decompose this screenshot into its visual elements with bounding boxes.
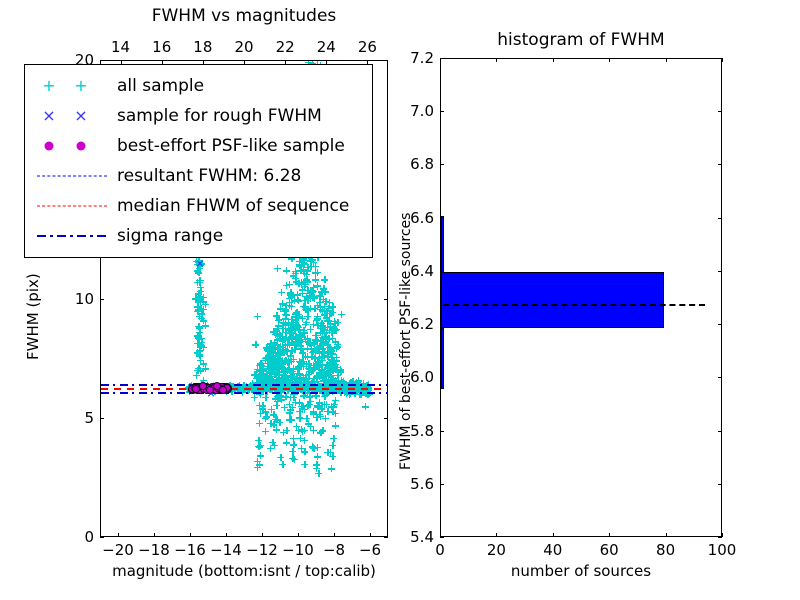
cross-icon: × xyxy=(42,108,55,124)
y-tick xyxy=(440,484,444,485)
histogram-resultant-FWHM-line xyxy=(443,304,705,306)
right-plot-title: histogram of FWHM xyxy=(440,30,722,50)
y-tick-label: 5.6 xyxy=(396,475,434,493)
x-tick xyxy=(609,533,610,537)
y-tick-label: 7.0 xyxy=(396,102,434,120)
x-tick-top xyxy=(496,58,497,62)
legend-key-2 xyxy=(33,135,111,157)
figure-canvas: FWHM vs magnitudes magnitude (bottom:isn… xyxy=(0,0,800,600)
y-tick-right xyxy=(718,537,722,538)
y-tick xyxy=(440,164,444,165)
legend-item-3: resultant FWHM: 6.28 xyxy=(33,161,362,191)
y-tick-label: 0 xyxy=(54,528,94,546)
y-tick-right xyxy=(718,58,722,59)
dot-icon xyxy=(45,142,54,151)
x-tick xyxy=(496,533,497,537)
legend-item-0: ++all sample xyxy=(33,71,362,101)
plus-icon: + xyxy=(42,78,55,94)
y-tick xyxy=(100,537,104,538)
cross-icon: × xyxy=(74,108,87,124)
x-tick-label: 60 xyxy=(600,541,619,559)
left-plot-xlabel: magnitude (bottom:isnt / top:calib) xyxy=(100,562,388,580)
y-tick-right xyxy=(718,431,722,432)
y-tick xyxy=(440,58,444,59)
x-tick-top xyxy=(553,58,554,62)
legend-item-2: best-effort PSF-like sample xyxy=(33,131,362,161)
legend-key-1: ×× xyxy=(33,105,111,127)
right-plot-axes xyxy=(440,58,722,537)
x-tick xyxy=(553,533,554,537)
x-tick-label-bottom: −8 xyxy=(323,541,345,559)
x-tick-label-bottom: −18 xyxy=(138,541,170,559)
x-tick-label-bottom: −12 xyxy=(246,541,278,559)
x-tick-label-bottom: −6 xyxy=(359,541,381,559)
y-tick-right xyxy=(384,537,388,538)
y-tick xyxy=(440,537,444,538)
legend-item-4: median FHWM of sequence xyxy=(33,191,362,221)
legend-item-label: all sample xyxy=(111,76,204,96)
x-tick-label: 80 xyxy=(656,541,675,559)
y-tick-label: 10 xyxy=(54,290,94,308)
right-plot-xlabel: number of sources xyxy=(440,562,722,580)
x-tick xyxy=(722,533,723,537)
x-tick-label-bottom: −14 xyxy=(210,541,242,559)
y-tick-label: 6.2 xyxy=(396,315,434,333)
x-tick-label-top: 26 xyxy=(358,38,377,56)
legend-box: ++all sample××sample for rough FWHMbest-… xyxy=(24,64,373,258)
x-tick-label: 100 xyxy=(708,541,737,559)
scatter-point-psf xyxy=(219,386,227,394)
dashdot-line-icon xyxy=(37,235,107,237)
y-tick-label: 6.0 xyxy=(396,368,434,386)
x-tick-top xyxy=(722,58,723,62)
y-tick xyxy=(440,111,444,112)
x-tick-top xyxy=(666,58,667,62)
y-tick-label: 6.6 xyxy=(396,209,434,227)
histogram-bar-0 xyxy=(441,328,444,389)
x-tick-label-top: 18 xyxy=(193,38,212,56)
y-tick-right xyxy=(718,377,722,378)
x-tick-label: 40 xyxy=(543,541,562,559)
histogram-content xyxy=(441,59,721,536)
y-tick-right xyxy=(718,111,722,112)
y-tick-right xyxy=(718,164,722,165)
legend-item-label: sample for rough FWHM xyxy=(111,106,322,126)
dashed-line-icon xyxy=(37,176,107,177)
x-tick-label: 20 xyxy=(487,541,506,559)
histogram-bar-1 xyxy=(441,272,664,328)
x-tick-label-top: 24 xyxy=(317,38,336,56)
y-tick-right xyxy=(718,324,722,325)
x-tick xyxy=(666,533,667,537)
x-tick-label-bottom: −16 xyxy=(174,541,206,559)
x-tick-label-top: 14 xyxy=(111,38,130,56)
y-tick xyxy=(440,431,444,432)
left-plot-title: FWHM vs magnitudes xyxy=(100,6,388,26)
legend-item-label: sigma range xyxy=(111,226,223,246)
x-tick-label: 0 xyxy=(435,541,445,559)
left-plot-ylabel: FWHM (pix) xyxy=(24,273,42,360)
legend-item-label: median FHWM of sequence xyxy=(111,196,349,216)
legend-item-label: best-effort PSF-like sample xyxy=(111,136,345,156)
y-tick-label: 6.4 xyxy=(396,262,434,280)
x-tick-label-bottom: −10 xyxy=(282,541,314,559)
y-tick-label: 6.8 xyxy=(396,155,434,173)
y-tick-label: 5.4 xyxy=(396,528,434,546)
y-tick-right xyxy=(718,484,722,485)
legend-item-1: ××sample for rough FWHM xyxy=(33,101,362,131)
x-tick-label-bottom: −20 xyxy=(102,541,134,559)
dashed-line-icon xyxy=(37,206,107,207)
legend-key-0: ++ xyxy=(33,75,111,97)
plus-icon: + xyxy=(74,78,87,94)
legend-key-5 xyxy=(33,225,111,247)
dot-icon xyxy=(77,142,86,151)
x-tick-label-top: 20 xyxy=(234,38,253,56)
x-tick-label-top: 16 xyxy=(152,38,171,56)
x-tick-top xyxy=(609,58,610,62)
legend-item-5: sigma range xyxy=(33,221,362,251)
y-tick-right xyxy=(718,271,722,272)
y-tick-right xyxy=(718,218,722,219)
y-tick-label: 5 xyxy=(54,409,94,427)
y-tick-label: 5.8 xyxy=(396,422,434,440)
x-tick-label-top: 22 xyxy=(276,38,295,56)
legend-key-4 xyxy=(33,195,111,217)
legend-item-label: resultant FWHM: 6.28 xyxy=(111,166,301,186)
histogram-bar-2 xyxy=(441,216,444,272)
legend-key-3 xyxy=(33,165,111,187)
y-tick-label: 7.2 xyxy=(396,49,434,67)
